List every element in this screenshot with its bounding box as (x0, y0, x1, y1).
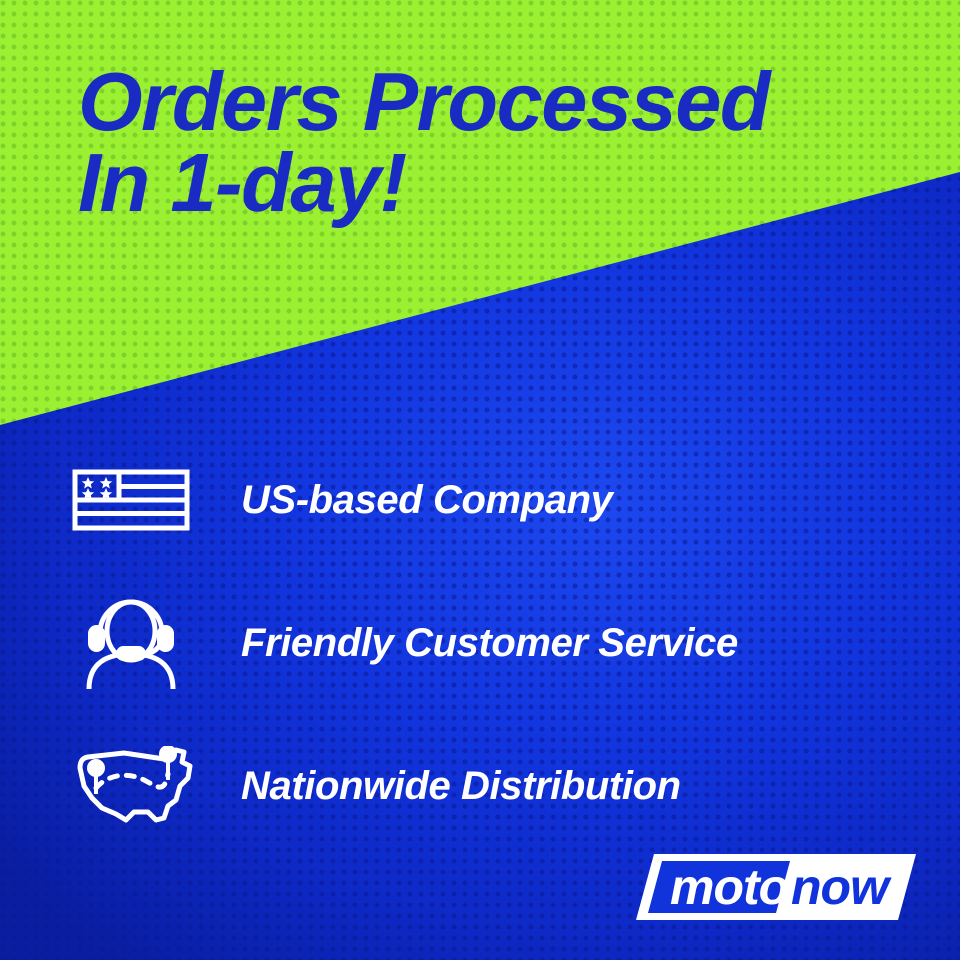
motonow-logo: moto now (636, 848, 916, 926)
promo-banner: Orders Processed In 1-day! (0, 0, 960, 960)
us-flag-icon (72, 469, 207, 531)
list-item: US-based Company (72, 452, 612, 548)
headline: Orders Processed In 1-day! (78, 62, 908, 223)
logo-word-primary: moto (670, 859, 788, 915)
us-map-pins-icon (72, 746, 207, 826)
list-item-label: Nationwide Distribution (241, 764, 681, 809)
list-item: Friendly Customer Service (72, 595, 738, 691)
list-item-label: Friendly Customer Service (241, 621, 738, 666)
list-item: Nationwide Distribution (72, 738, 681, 834)
logo-word-secondary: now (791, 859, 892, 915)
headset-agent-icon (72, 597, 207, 689)
list-item-label: US-based Company (241, 478, 612, 523)
